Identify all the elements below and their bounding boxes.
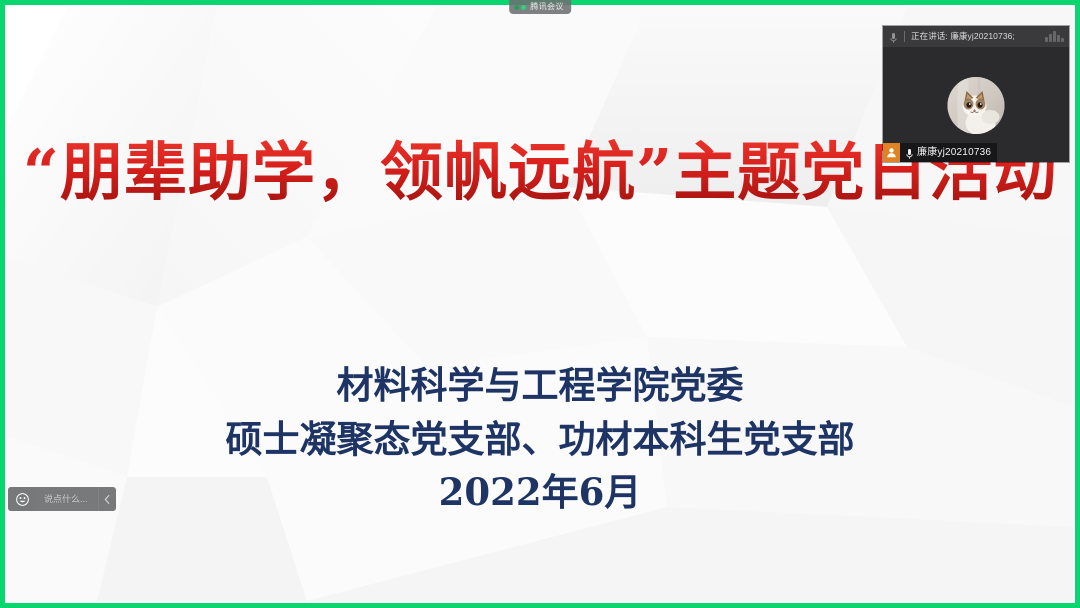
tencent-meeting-indicator[interactable]: 腾讯会议 xyxy=(509,0,571,14)
video-panel-body[interactable]: 廉康yj20210736 xyxy=(883,47,1069,162)
video-panel-header: 正在讲话: 廉康yj20210736; xyxy=(883,26,1069,47)
person-avatar-icon xyxy=(883,143,900,162)
speaking-status-label: 正在讲话: 廉康yj20210736; xyxy=(911,32,1015,41)
avatar xyxy=(948,77,1005,134)
smiley-face-icon[interactable] xyxy=(8,487,36,511)
status-dot-2 xyxy=(521,5,526,10)
meeting-screen-share-view: “朋辈助学，领帆远航”主题党日活动 材料科学与工程学院党委 硕士凝聚态党支部、功… xyxy=(0,0,1080,608)
microphone-icon xyxy=(889,31,898,43)
chevron-left-icon[interactable] xyxy=(98,487,116,511)
chat-input-placeholder: 说点什么... xyxy=(44,495,88,504)
sharing-status-dots xyxy=(514,5,526,10)
microphone-active-icon xyxy=(905,147,914,159)
participant-name-bar: 廉康yj20210736 xyxy=(883,143,997,162)
audio-waveform-icon xyxy=(1045,31,1064,42)
slide-subtitle-branches: 硕士凝聚态党支部、功材本科生党支部 xyxy=(7,413,1073,467)
slide-subtitle-date: 2022年6月 xyxy=(7,466,1073,520)
participant-name-label: 廉康yj20210736 xyxy=(917,148,991,158)
chat-message-input[interactable]: 说点什么... xyxy=(36,487,98,511)
chat-input-bar[interactable]: 说点什么... xyxy=(8,487,116,511)
slide-subtitle-container: 材料科学与工程学院党委 硕士凝聚态党支部、功材本科生党支部 2022年6月 xyxy=(7,359,1073,520)
header-divider xyxy=(904,31,905,42)
participant-video-panel[interactable]: 正在讲话: 廉康yj20210736; xyxy=(883,26,1069,162)
slide-subtitle-organization: 材料科学与工程学院党委 xyxy=(7,359,1073,413)
status-dot-1 xyxy=(514,5,519,10)
tencent-meeting-label: 腾讯会议 xyxy=(530,3,564,11)
